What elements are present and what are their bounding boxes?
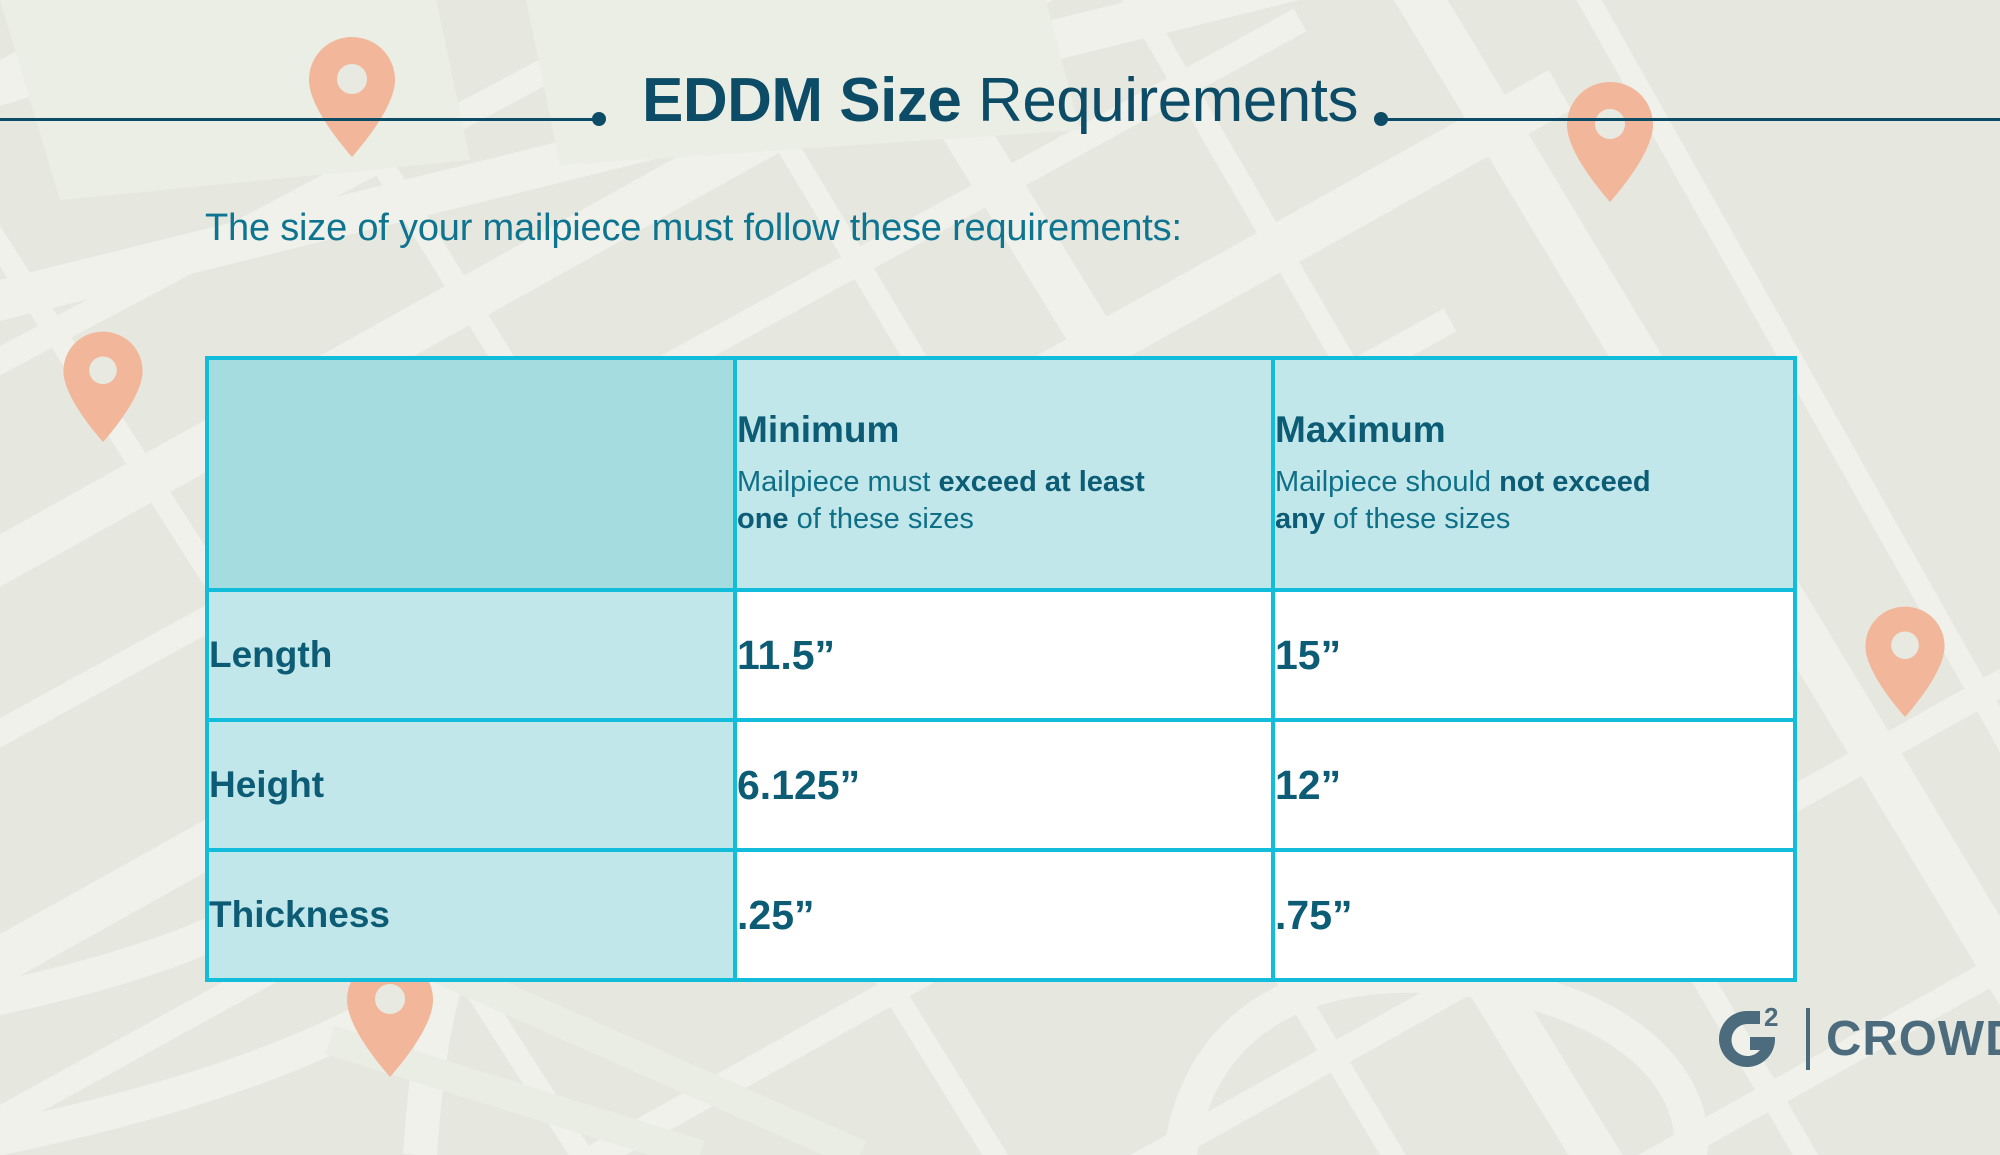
- size-requirements-table: Minimum Mailpiece must exceed at least o…: [205, 356, 1797, 982]
- row-minimum-thickness: .25”: [735, 850, 1273, 980]
- table-header-blank: [207, 358, 735, 590]
- table-header-maximum-desc: Mailpiece should not exceed any of these…: [1275, 464, 1705, 538]
- logo-wordmark: CROWD: [1826, 1015, 2000, 1064]
- row-minimum-length: 11.5”: [735, 590, 1273, 720]
- page-subtitle: The size of your mailpiece must follow t…: [205, 207, 1182, 250]
- maximum-desc-pre: Mailpiece should: [1275, 466, 1499, 498]
- page-title: EDDM Size Requirements: [0, 70, 2000, 132]
- map-pin-icon: [1865, 607, 1944, 717]
- map-pin-icon: [63, 332, 142, 442]
- maximum-desc-post: of these sizes: [1325, 503, 1510, 535]
- row-maximum-thickness: .75”: [1273, 850, 1795, 980]
- page-title-light: Requirements: [961, 66, 1358, 135]
- table-header-row: Minimum Mailpiece must exceed at least o…: [207, 358, 1795, 590]
- table-header-maximum-title: Maximum: [1275, 410, 1793, 451]
- table-header-maximum: Maximum Mailpiece should not exceed any …: [1273, 358, 1795, 590]
- logo-divider: [1806, 1008, 1810, 1070]
- table-header-minimum: Minimum Mailpiece must exceed at least o…: [735, 358, 1273, 590]
- table-row: Thickness .25” .75”: [207, 850, 1795, 980]
- row-maximum-height: 12”: [1273, 720, 1795, 850]
- row-label-length: Length: [207, 590, 735, 720]
- row-maximum-length: 15”: [1273, 590, 1795, 720]
- table-row: Length 11.5” 15”: [207, 590, 1795, 720]
- minimum-desc-pre: Mailpiece must: [737, 466, 938, 498]
- g2-mark-icon: 2: [1706, 1003, 1798, 1075]
- minimum-desc-post: of these sizes: [789, 503, 974, 535]
- infographic-canvas: EDDM Size Requirements The size of your …: [0, 0, 2000, 1155]
- table-header-minimum-desc: Mailpiece must exceed at least one of th…: [737, 464, 1167, 538]
- row-minimum-height: 6.125”: [735, 720, 1273, 850]
- row-label-thickness: Thickness: [207, 850, 735, 980]
- table-header-minimum-title: Minimum: [737, 410, 1271, 451]
- svg-text:2: 2: [1764, 1003, 1778, 1032]
- g2-crowd-logo: 2 CROWD: [1706, 1003, 2000, 1075]
- row-label-height: Height: [207, 720, 735, 850]
- page-title-bold: EDDM Size: [642, 66, 961, 135]
- table-row: Height 6.125” 12”: [207, 720, 1795, 850]
